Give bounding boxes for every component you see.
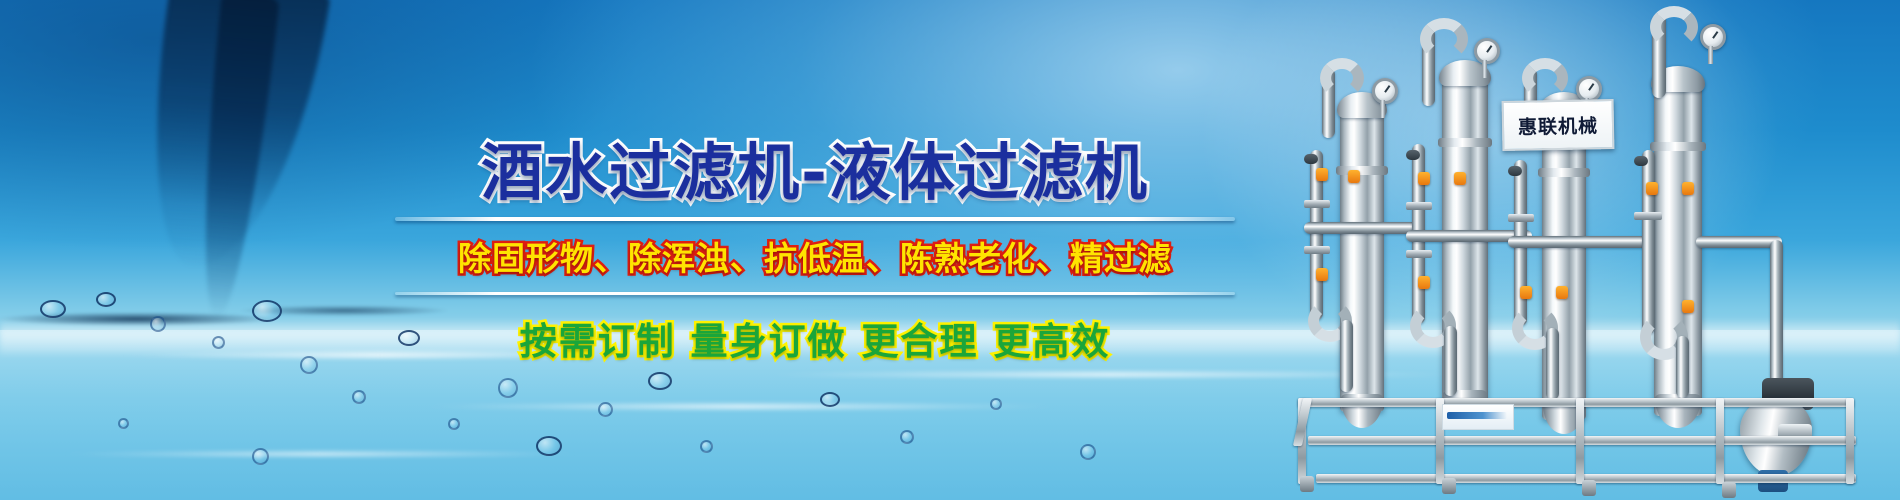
valve-knob <box>1508 166 1522 176</box>
bubble <box>150 316 166 332</box>
bubble <box>252 300 282 322</box>
return-pipe <box>1340 320 1353 392</box>
water-sheen <box>420 404 1060 409</box>
brand-plate-text: 惠联机械 <box>1518 111 1598 139</box>
u-bend-top <box>1320 58 1364 98</box>
valve-handle <box>1646 182 1658 195</box>
vessel-flange <box>1438 138 1492 147</box>
bubble <box>900 430 914 444</box>
downcomer-pipe <box>1642 150 1655 334</box>
pipe-clamp <box>1406 250 1432 258</box>
valve-handle <box>1682 300 1694 313</box>
bubble <box>498 378 518 398</box>
outlet-riser <box>1770 240 1783 400</box>
u-bend-top <box>1522 58 1568 98</box>
bubble <box>448 418 460 430</box>
bubble <box>700 440 713 453</box>
frame-leg <box>1576 398 1584 484</box>
pipe-clamp <box>1406 202 1432 210</box>
frame-leg <box>1846 398 1854 484</box>
gauge-stem <box>1380 100 1385 118</box>
divider-top <box>395 217 1235 221</box>
caster-foot <box>1582 480 1596 496</box>
valve-knob <box>1304 154 1318 164</box>
bubble <box>536 436 562 456</box>
vessel-flange <box>1650 142 1707 151</box>
caster-foot <box>1722 482 1736 498</box>
bubble <box>252 448 269 465</box>
equipment-label <box>1442 404 1514 430</box>
banner-tagline: 按需订制 量身订做 更合理 更高效 <box>395 311 1235 365</box>
return-pipe <box>1676 336 1689 398</box>
bubble <box>820 392 840 407</box>
cross-pipe <box>1304 222 1420 234</box>
filtration-machine: 惠联机械 <box>1270 0 1900 500</box>
valve-handle <box>1454 172 1466 185</box>
return-pipe <box>1444 326 1457 396</box>
caster-foot <box>1442 478 1456 494</box>
product-banner: 酒水过滤机-液体过滤机 除固形物、除浑浊、抗低温、陈熟老化、精过滤 按需订制 量… <box>0 0 1900 500</box>
pressure-gauge <box>1372 78 1398 104</box>
u-bend-top <box>1650 6 1698 48</box>
bubble <box>352 390 366 404</box>
divider-bottom <box>395 292 1235 295</box>
bubble <box>300 356 318 374</box>
bubble <box>1080 444 1096 460</box>
brand-plate: 惠联机械 <box>1502 99 1615 151</box>
bubble <box>40 300 66 318</box>
frame-leg <box>1716 398 1724 484</box>
valve-handle <box>1348 170 1360 183</box>
pipe-clamp <box>1508 214 1534 222</box>
bubble <box>648 372 672 390</box>
return-pipe <box>1546 328 1559 400</box>
banner-text-block: 酒水过滤机-液体过滤机 除固形物、除浑浊、抗低温、陈熟老化、精过滤 按需订制 量… <box>395 140 1235 365</box>
bubble <box>96 292 116 307</box>
pipe-clamp <box>1304 200 1330 208</box>
water-sheen <box>60 452 580 456</box>
pipe-clamp <box>1634 212 1662 220</box>
gauge-stem <box>1482 60 1487 78</box>
valve-handle <box>1418 276 1430 289</box>
banner-title: 酒水过滤机-液体过滤机 <box>395 140 1235 205</box>
vessel-flange <box>1538 168 1590 177</box>
bubble <box>212 336 225 349</box>
pressure-gauge <box>1474 38 1500 64</box>
bubble <box>118 418 129 429</box>
valve-handle <box>1520 286 1532 299</box>
cross-pipe <box>1508 236 1648 248</box>
skid-frame <box>1298 392 1858 484</box>
valve-handle <box>1556 286 1568 299</box>
valve-knob <box>1634 156 1648 166</box>
valve-handle <box>1316 168 1328 181</box>
u-bend-top <box>1420 18 1468 60</box>
caster-foot <box>1300 476 1314 492</box>
valve-knob <box>1406 150 1420 160</box>
valve-handle <box>1682 182 1694 195</box>
banner-subtitle: 除固形物、除浑浊、抗低温、陈熟老化、精过滤 <box>395 232 1235 280</box>
pressure-gauge <box>1700 24 1726 50</box>
gauge-stem <box>1708 46 1713 64</box>
vessel-flange <box>1336 166 1388 175</box>
pressure-gauge <box>1576 76 1602 102</box>
pipe-clamp <box>1304 246 1330 254</box>
bubble <box>990 398 1002 410</box>
valve-handle <box>1316 268 1328 281</box>
bubble <box>598 402 613 417</box>
valve-handle <box>1418 172 1430 185</box>
